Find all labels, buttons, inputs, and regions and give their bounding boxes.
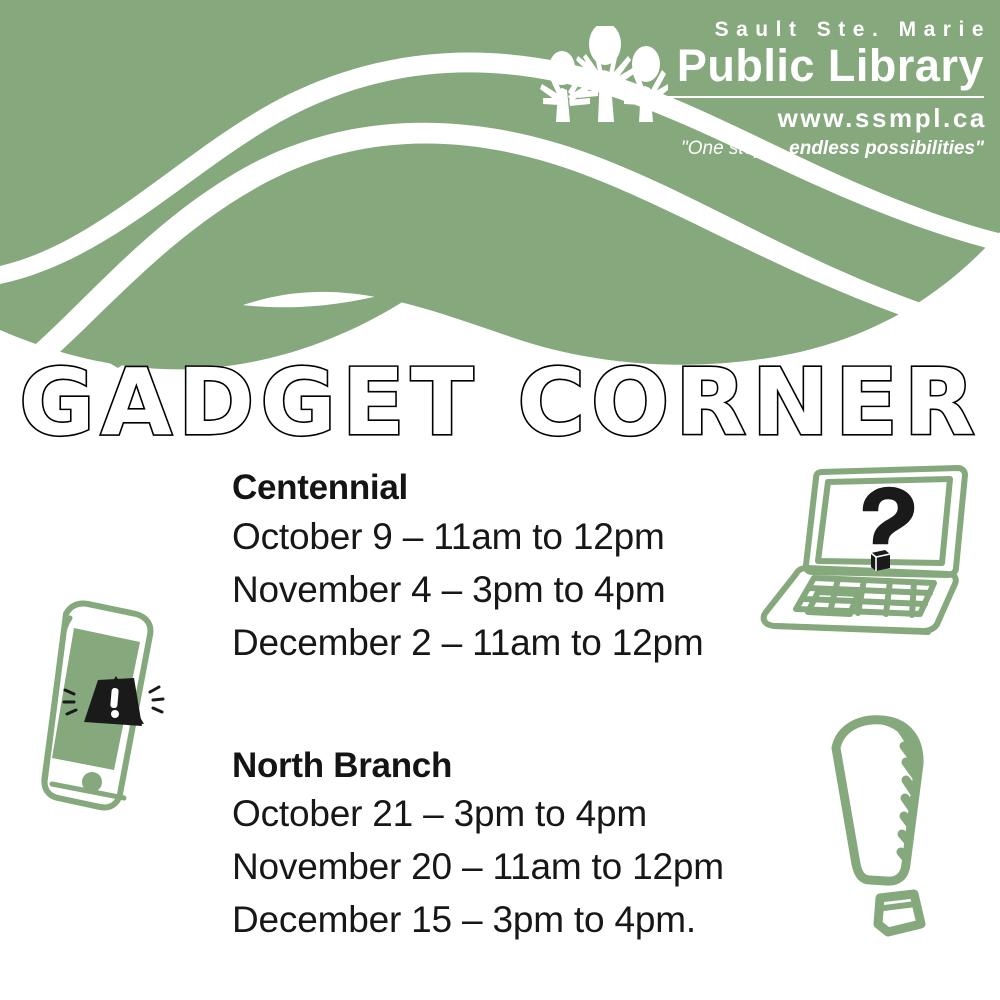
schedule-group-centennial: Centennial October 9 – 11am to 12pm Nove… — [232, 466, 832, 670]
exclamation-mark-illustration — [806, 702, 978, 944]
library-logo: Sault Ste. Marie Public Library www.ssmp… — [540, 18, 990, 198]
logo-tagline: "One stop….endless possibilities" — [681, 138, 984, 161]
logo-wordmark: Sault Ste. Marie Public Library www.ssmp… — [668, 18, 990, 160]
branch-heading: Centennial — [232, 466, 832, 511]
session-line: November 4 – 3pm to 4pm — [232, 564, 832, 617]
question-mark-glyph — [864, 488, 913, 571]
session-line: November 20 – 11am to 12pm — [232, 841, 832, 894]
phone-home-button — [82, 772, 102, 792]
tagline-regular-part: "One stop…. — [681, 138, 789, 159]
poster: Sault Ste. Marie Public Library www.ssmp… — [0, 0, 1000, 1000]
session-line: December 15 – 3pm to 4pm. — [232, 894, 832, 947]
logo-website-url[interactable]: www.ssmpl.ca — [778, 104, 987, 133]
tagline-bold-part: endless possibilities" — [789, 138, 984, 159]
session-line: December 2 – 11am to 12pm — [232, 617, 832, 670]
cattail-plants-icon — [540, 26, 668, 134]
branch-heading: North Branch — [232, 744, 832, 789]
schedule-group-north-branch: North Branch October 21 – 3pm to 4pm Nov… — [232, 744, 832, 948]
schedule-block: Centennial October 9 – 11am to 12pm Nove… — [232, 466, 832, 947]
logo-line-name: Public Library — [677, 43, 984, 89]
logo-divider — [668, 96, 984, 98]
logo-line-city: Sault Ste. Marie — [715, 18, 991, 42]
session-line: October 21 – 3pm to 4pm — [232, 788, 832, 841]
laptop-question-mark-illustration — [752, 462, 996, 640]
session-line: October 9 – 11am to 12pm — [232, 511, 832, 564]
smartphone-warning-illustration — [32, 592, 188, 818]
